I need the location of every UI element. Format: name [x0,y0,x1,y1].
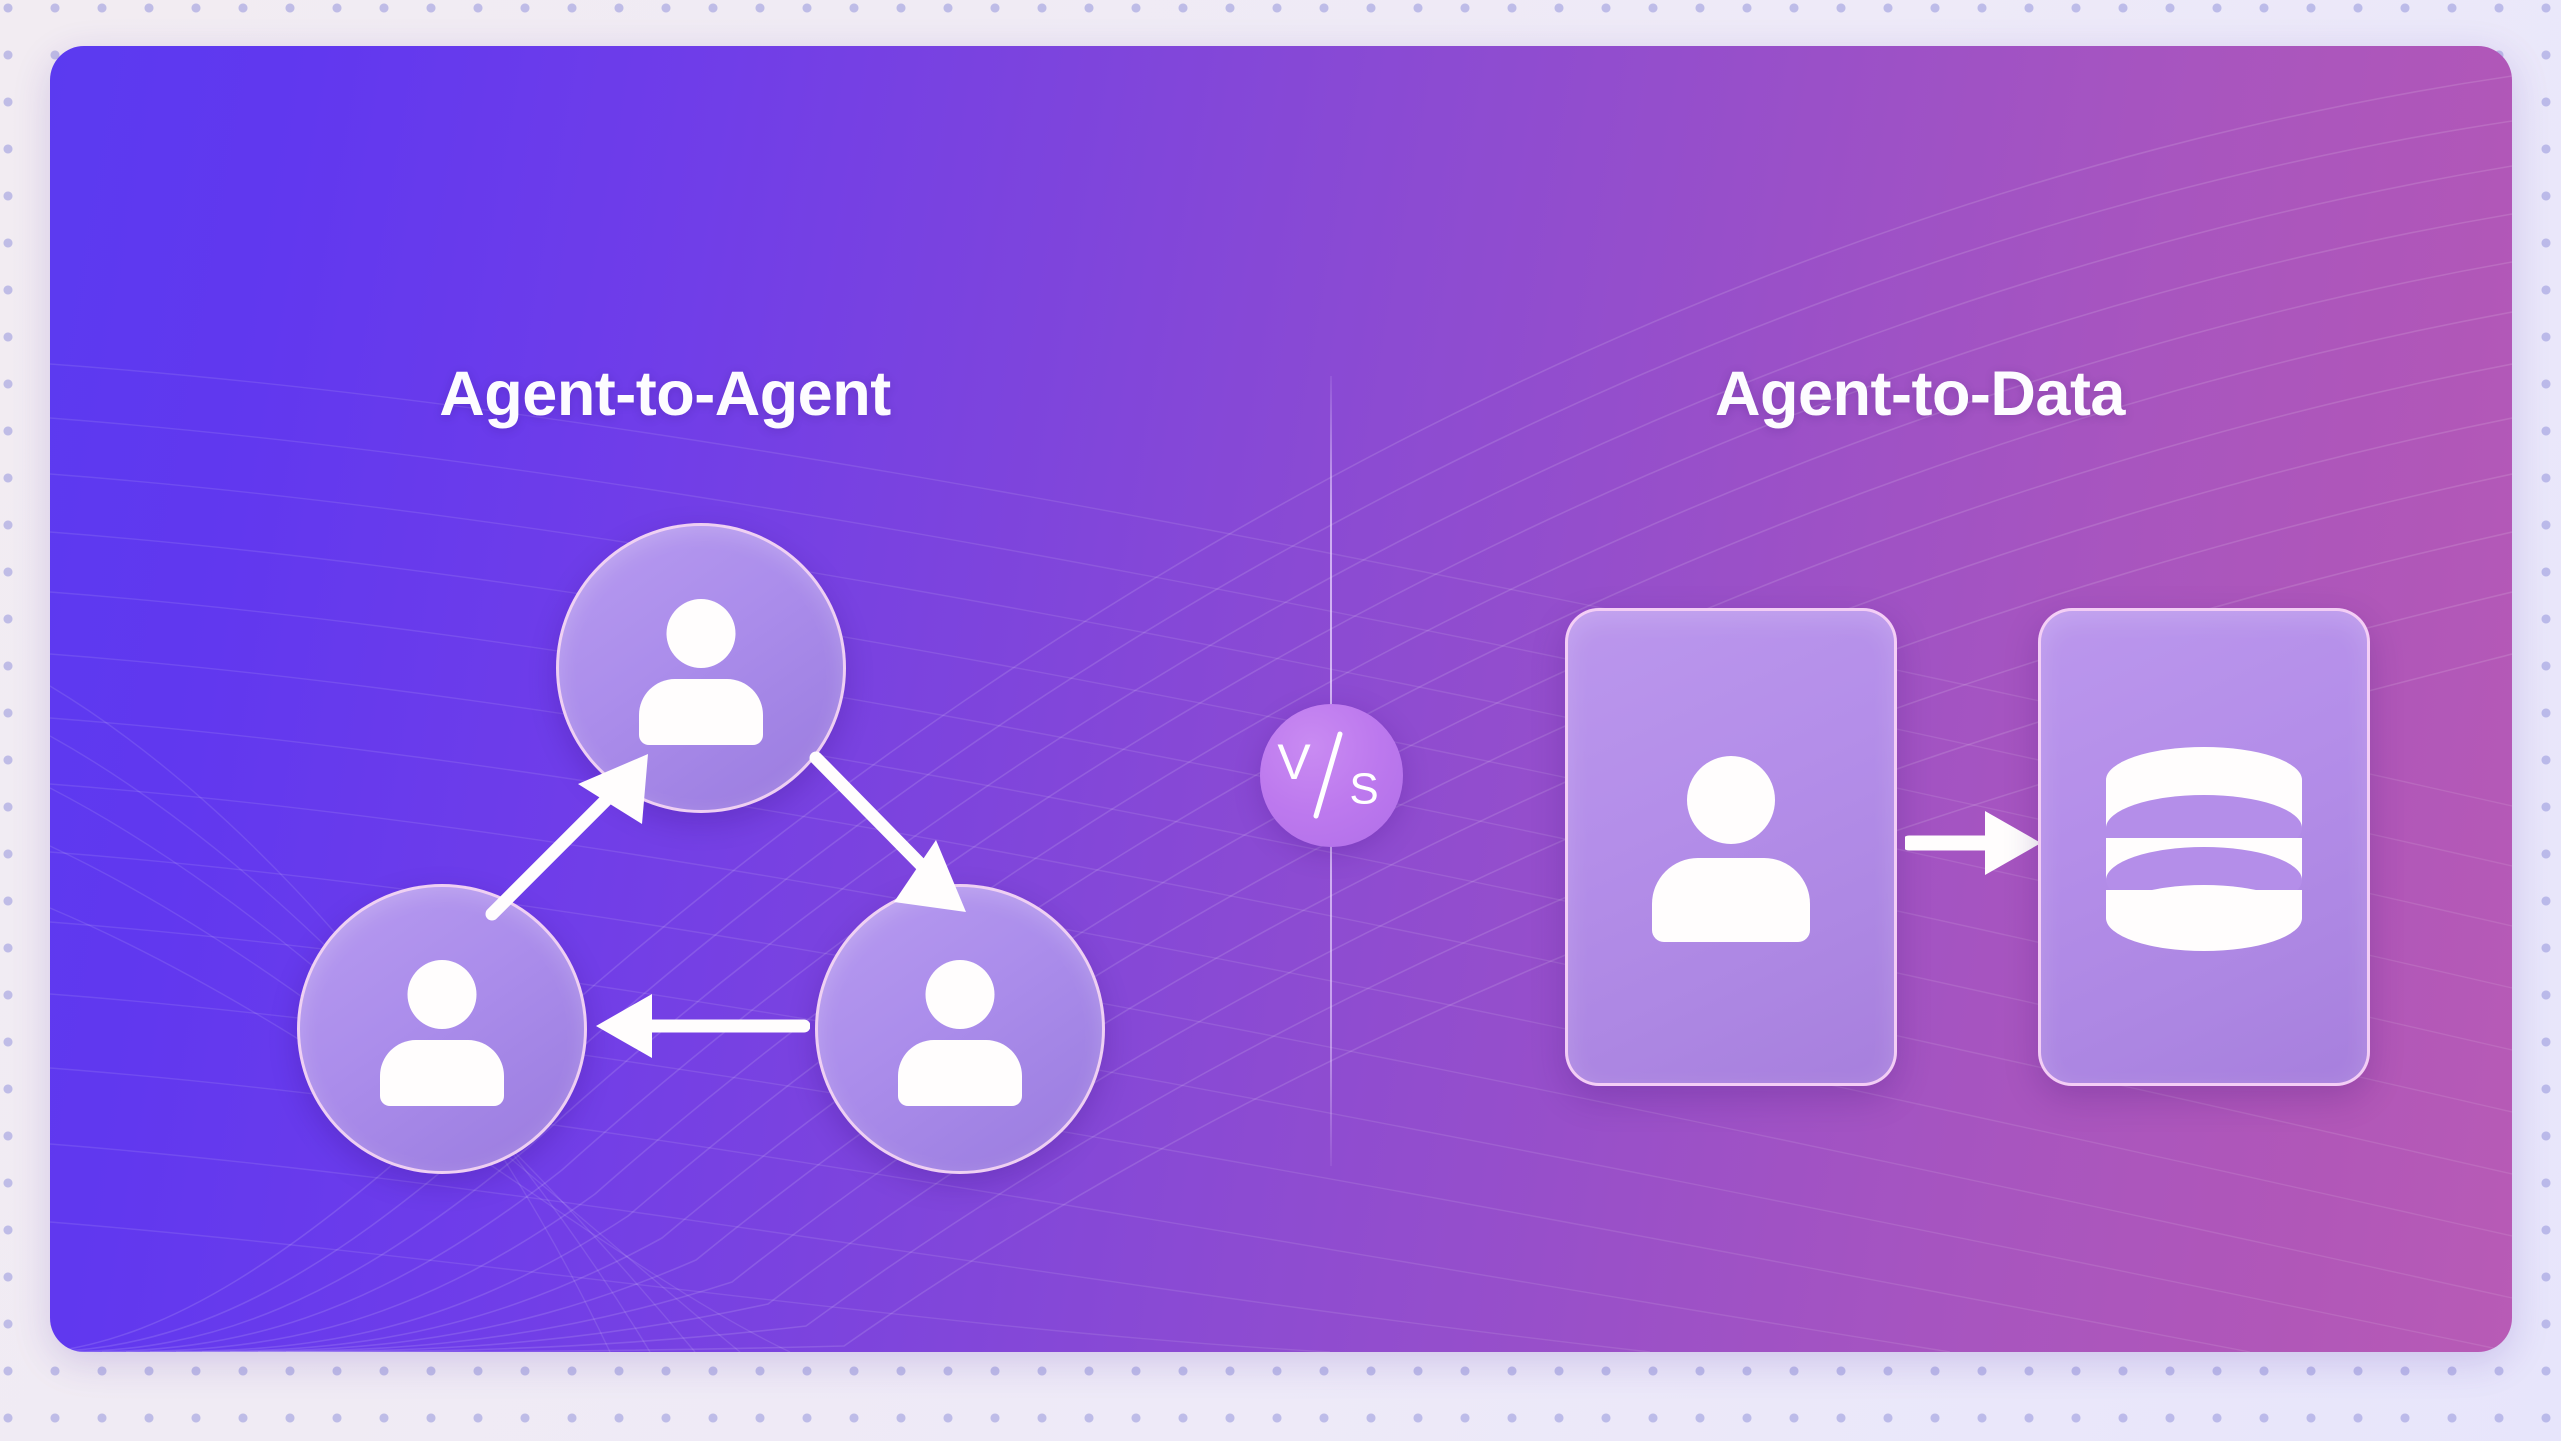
person-icon-head [667,599,736,668]
agent-node-bottom-right[interactable] [815,884,1105,1174]
person-icon [885,954,1035,1104]
page-background: Agent-to-Agent Agent-to-Data V S [0,0,2561,1441]
data-card[interactable] [2038,608,2370,1086]
person-icon-body [1652,858,1810,942]
person-icon [367,954,517,1104]
comparison-panel: Agent-to-Agent Agent-to-Data V S [50,46,2512,1352]
person-icon [626,593,776,743]
versus-badge-s: S [1349,765,1378,814]
agent-card[interactable] [1565,608,1897,1086]
person-icon-head [1687,756,1775,844]
person-icon-body [898,1040,1022,1106]
versus-badge-slash [1316,734,1340,816]
person-icon-body [639,679,763,745]
versus-badge: V S [1260,704,1403,847]
right-section-title: Agent-to-Data [1330,358,2510,430]
arrow-right-icon [1905,806,2045,880]
versus-badge-v: V [1277,734,1311,790]
database-icon [2089,740,2319,955]
person-icon-head [408,960,477,1029]
agent-node-bottom-left[interactable] [297,884,587,1174]
arrow-left-icon [590,986,810,1066]
person-icon-body [380,1040,504,1106]
left-section-title: Agent-to-Agent [50,358,1280,430]
person-icon [1636,752,1826,942]
person-icon-head [926,960,995,1029]
agent-node-top[interactable] [556,523,846,813]
